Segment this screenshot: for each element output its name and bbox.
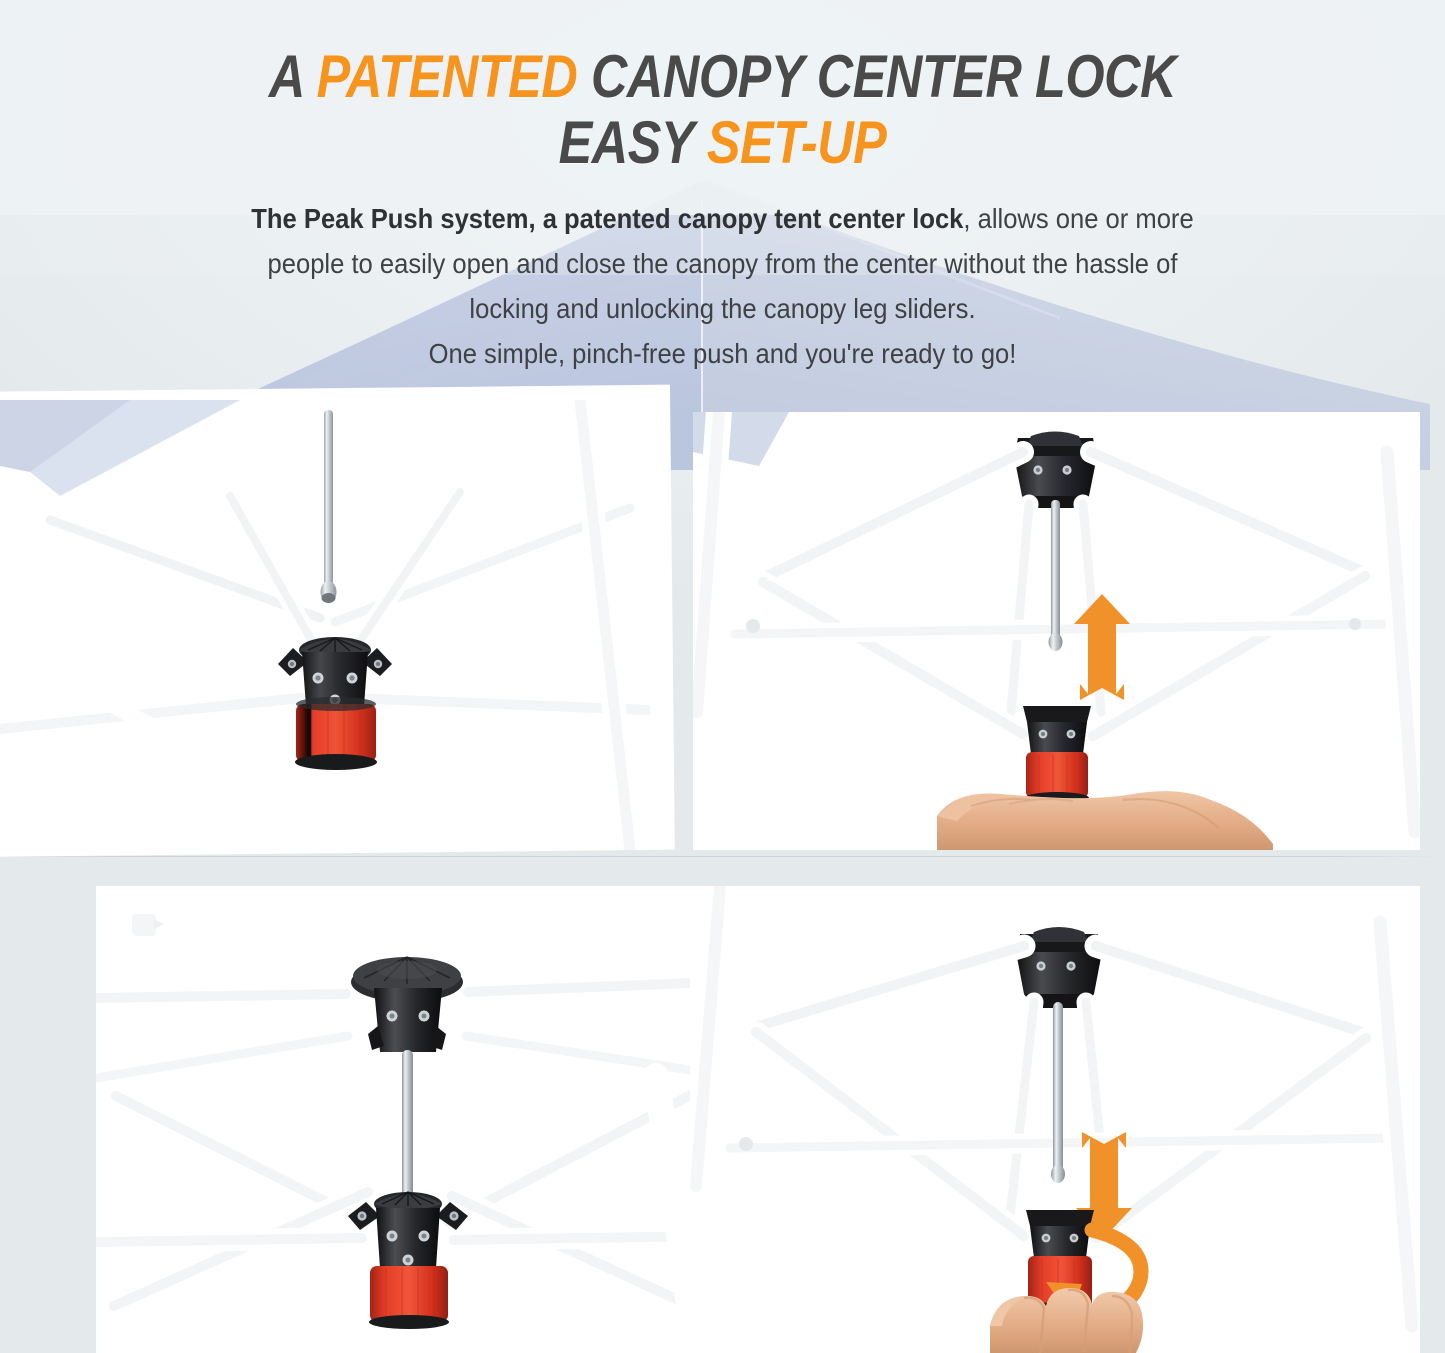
canopy-frame-collapsed-photo — [0, 400, 650, 850]
center-lock-extended-photo — [96, 886, 716, 1353]
infographic-page: A PATENTED CANOPY CENTER LOCK EASY SET-U… — [0, 0, 1445, 1353]
hand-pushing-hub-up-photo — [693, 412, 1420, 850]
photo-panel-grid — [0, 0, 1445, 1353]
panel-row-divider — [0, 856, 1445, 857]
hand-pulling-hub-down-photo — [690, 886, 1420, 1353]
